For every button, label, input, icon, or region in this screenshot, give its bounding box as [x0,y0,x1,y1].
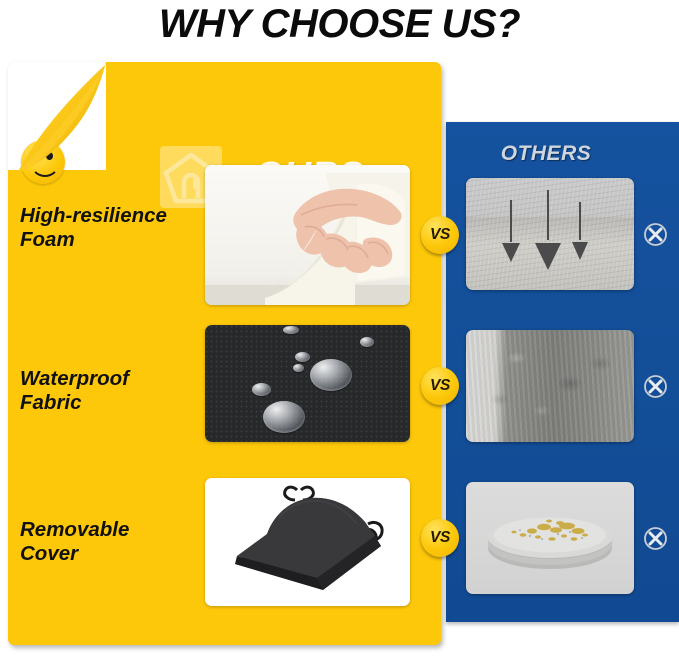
water-droplet [283,326,299,334]
pressure-arrow-icon [570,202,590,260]
page-title: WHY CHOOSE US? [0,2,679,47]
water-droplet [252,383,271,396]
smiley-mouth [30,157,60,177]
pressure-arrow-icon [500,200,522,262]
waterproof-fabric-texture [205,325,410,442]
vs-badge-row-2: VS [421,519,459,557]
ours-row-2-image [205,478,410,606]
vs-badge-row-0: VS [421,216,459,254]
others-row-2-image [466,482,634,594]
water-droplet [263,401,305,433]
water-droplet [360,337,374,347]
stained-cushion-graphic [466,482,634,594]
smiley-face-icon [21,140,65,184]
feature-label-waterproof-fabric: Waterproof Fabric [20,367,200,415]
water-droplet [293,364,304,372]
x-mark-icon [643,526,668,551]
water-droplet [310,359,352,391]
x-mark-icon [643,374,668,399]
soaked-fabric-texture [466,330,634,442]
others-row-1-image [466,330,634,442]
vs-badge-row-1: VS [421,367,459,405]
ours-row-1-image [205,325,410,442]
others-panel-title: OTHERS [446,142,646,166]
ours-row-0-image [205,165,410,305]
hand-squeezing-foam-graphic [205,165,410,305]
black-cushion-graphic [205,478,410,606]
x-mark-icon [643,222,668,247]
feature-label-high-resilience-foam: High-resilience Foam [20,204,200,252]
others-row-0-image [466,178,634,290]
water-droplet [295,352,310,362]
feature-label-removable-cover: Removable Cover [20,518,200,566]
pressure-arrow-icon [534,190,562,270]
